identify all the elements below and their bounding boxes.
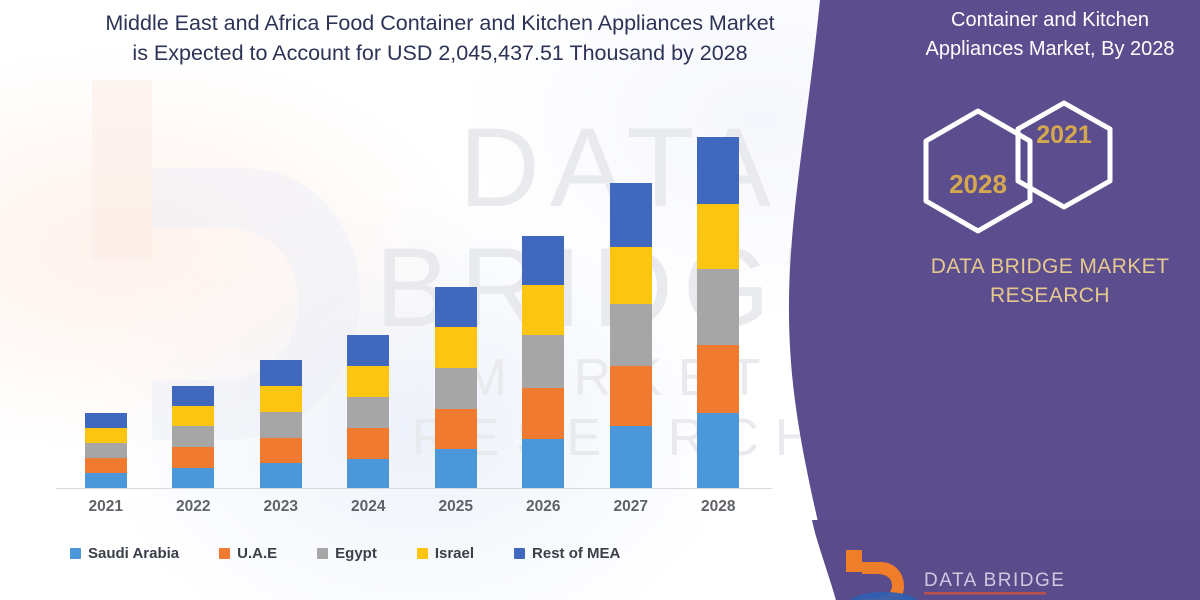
x-axis-label-2027: 2027 (587, 498, 675, 516)
bar-segment-rest-of-mea[interactable] (172, 386, 214, 406)
page-title-line-2: is Expected to Account for USD 2,045,437… (60, 38, 820, 68)
bar-segment-u-a-e[interactable] (85, 458, 127, 473)
panel-title-line-1: Container and Kitchen (905, 6, 1195, 35)
bar-column-2025 (412, 98, 500, 488)
legend-swatch-icon (417, 548, 428, 559)
bar-column-2026 (500, 98, 588, 488)
x-axis-label-2023: 2023 (237, 498, 325, 516)
bar-segment-israel[interactable] (435, 327, 477, 368)
legend-item-rest-of-mea[interactable]: Rest of MEA (514, 545, 620, 562)
bar-segment-u-a-e[interactable] (347, 428, 389, 459)
brand-line-2: RESEARCH (905, 281, 1195, 310)
stacked-bar[interactable] (347, 335, 389, 488)
bar-column-2022 (150, 98, 238, 488)
stacked-bar[interactable] (610, 183, 652, 488)
stacked-bar[interactable] (697, 137, 739, 488)
x-axis-labels: 20212022202320242025202620272028 (62, 498, 762, 516)
chart-legend: Saudi ArabiaU.A.EEgyptIsraelRest of MEA (70, 540, 770, 566)
bar-column-2028 (675, 98, 763, 488)
bar-segment-israel[interactable] (85, 428, 127, 443)
infographic-canvas: DATA BRIDGE MARKET RESEARCH Middle East … (0, 0, 1200, 600)
stacked-bar[interactable] (522, 236, 564, 488)
legend-swatch-icon (219, 548, 230, 559)
bar-segment-saudi-arabia[interactable] (347, 459, 389, 488)
bar-segment-u-a-e[interactable] (172, 447, 214, 468)
bar-segment-saudi-arabia[interactable] (522, 439, 564, 488)
bar-segment-israel[interactable] (697, 204, 739, 269)
bar-segment-egypt[interactable] (435, 368, 477, 409)
bar-segment-u-a-e[interactable] (610, 366, 652, 426)
x-axis-label-2028: 2028 (675, 498, 763, 516)
bar-column-2023 (237, 98, 325, 488)
brand-line-1: DATA BRIDGE MARKET (905, 252, 1195, 281)
stacked-bar[interactable] (85, 413, 127, 488)
hexagon-badge-label-2028: 2028 (949, 169, 1007, 199)
bar-column-2021 (62, 98, 150, 488)
bar-segment-rest-of-mea[interactable] (522, 236, 564, 285)
page-title-line-1: Middle East and Africa Food Container an… (60, 8, 820, 38)
bar-segment-egypt[interactable] (85, 443, 127, 458)
legend-swatch-icon (317, 548, 328, 559)
bar-segment-israel[interactable] (260, 386, 302, 412)
brand-name: DATA BRIDGE MARKET RESEARCH (905, 252, 1195, 310)
bar-segment-rest-of-mea[interactable] (697, 137, 739, 204)
hexagon-badge-label-2021: 2021 (1036, 121, 1092, 149)
legend-label: U.A.E (237, 545, 277, 562)
stacked-bar[interactable] (435, 287, 477, 488)
bar-segment-israel[interactable] (610, 247, 652, 304)
bar-segment-saudi-arabia[interactable] (260, 463, 302, 488)
page-title: Middle East and Africa Food Container an… (60, 8, 820, 68)
bar-segment-saudi-arabia[interactable] (610, 426, 652, 488)
legend-item-egypt[interactable]: Egypt (317, 545, 377, 562)
bar-segment-rest-of-mea[interactable] (435, 287, 477, 327)
bar-segment-rest-of-mea[interactable] (85, 413, 127, 428)
panel-title-line-2: Appliances Market, By 2028 (905, 35, 1195, 64)
x-axis-label-2025: 2025 (412, 498, 500, 516)
legend-label: Egypt (335, 545, 377, 562)
legend-item-israel[interactable]: Israel (417, 545, 474, 562)
bar-segment-saudi-arabia[interactable] (172, 468, 214, 488)
hexagon-badges: 2021 2028 (900, 95, 1200, 235)
chart-baseline (56, 488, 772, 489)
bar-column-2024 (325, 98, 413, 488)
stacked-bar[interactable] (172, 386, 214, 488)
dbmr-footer-logo-icon: DATA BRIDGE (840, 548, 1070, 600)
bar-segment-saudi-arabia[interactable] (85, 473, 127, 488)
bar-segment-saudi-arabia[interactable] (435, 449, 477, 488)
legend-item-u-a-e[interactable]: U.A.E (219, 545, 277, 562)
legend-swatch-icon (514, 548, 525, 559)
bar-segment-saudi-arabia[interactable] (697, 413, 739, 488)
bar-segment-u-a-e[interactable] (435, 409, 477, 449)
stacked-bar[interactable] (260, 360, 302, 488)
bar-segment-egypt[interactable] (347, 397, 389, 428)
bar-segment-egypt[interactable] (610, 304, 652, 366)
stacked-bar-chart (62, 98, 762, 488)
bar-segment-u-a-e[interactable] (260, 438, 302, 463)
bar-column-2027 (587, 98, 675, 488)
bar-segment-rest-of-mea[interactable] (610, 183, 652, 247)
x-axis-label-2021: 2021 (62, 498, 150, 516)
legend-label: Saudi Arabia (88, 545, 179, 562)
x-axis-label-2024: 2024 (325, 498, 413, 516)
legend-item-saudi-arabia[interactable]: Saudi Arabia (70, 545, 179, 562)
bar-segment-egypt[interactable] (697, 269, 739, 345)
dbmr-footer-logo-text: DATA BRIDGE (924, 570, 1065, 591)
legend-label: Rest of MEA (532, 545, 620, 562)
bar-segment-egypt[interactable] (260, 412, 302, 438)
bar-segment-israel[interactable] (347, 366, 389, 397)
legend-label: Israel (435, 545, 474, 562)
bar-segment-israel[interactable] (522, 285, 564, 335)
panel-title: Container and Kitchen Appliances Market,… (905, 6, 1195, 64)
bar-segment-u-a-e[interactable] (697, 345, 739, 413)
bar-segment-u-a-e[interactable] (522, 388, 564, 439)
bar-segment-egypt[interactable] (172, 426, 214, 447)
bar-segment-israel[interactable] (172, 406, 214, 426)
bar-segment-rest-of-mea[interactable] (260, 360, 302, 386)
legend-swatch-icon (70, 548, 81, 559)
x-axis-label-2026: 2026 (500, 498, 588, 516)
bar-segment-egypt[interactable] (522, 335, 564, 388)
x-axis-label-2022: 2022 (150, 498, 238, 516)
bar-segment-rest-of-mea[interactable] (347, 335, 389, 366)
